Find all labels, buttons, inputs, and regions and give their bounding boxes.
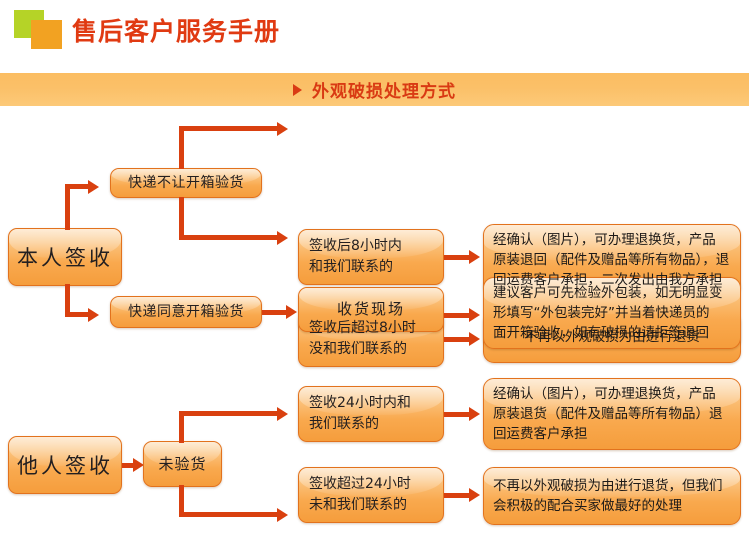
arrow-head-icon [469,332,480,346]
connector-line [179,235,279,240]
arrow-head-icon [277,122,288,136]
connector-line [65,312,90,317]
flow-node-label: 签收超过24小时 未和我们联系的 [299,474,443,516]
result-line: 经确认（图片），可办理退换货，产品 [493,230,731,250]
flow-node-result-refund-confirmed-24h[interactable]: 经确认（图片），可办理退换货，产品 原装退货（配件及赠品等所有物品）退 回运费客… [483,378,741,450]
flow-node-result-no-refund-but-help[interactable]: 不再以外观破损为由进行退货，但我们 会积极的配合买家做最好的处理 [483,467,741,525]
flow-node-result-pre-inspection-advice[interactable]: 建议客户可先检验外包装，如无明显变 形填写“外包装完好”并当着快递员的 面开箱验… [483,277,741,349]
flow-node-label: 快递同意开箱验货 [111,303,261,322]
result-line: 面开箱验收，如有破损的请拒签退回 [493,323,731,343]
flow-node-label: 他人签收 [9,450,121,480]
flow-node-label-line2: 未和我们联系的 [309,495,443,516]
connector-line [179,197,184,240]
flow-node-self-signed-root[interactable]: 本人签收 [8,228,122,286]
arrow-head-icon [277,407,288,421]
arrow-head-icon [469,488,480,502]
flow-node-label-line2: 我们联系的 [309,414,443,435]
flow-node-label: 经确认（图片），可办理退换货，产品 原装退回（配件及赠品等所有物品），退 回运费… [484,230,740,290]
flow-node-label-line1: 签收后超过8小时 [309,318,443,339]
flow-node-label: 建议客户可先检验外包装，如无明显变 形填写“外包装完好”并当着快递员的 面开箱验… [484,283,740,343]
flow-node-label-line1: 签收超过24小时 [309,474,443,495]
arrow-head-icon [277,508,288,522]
arrow-head-icon [88,180,99,194]
connector-line [179,411,279,416]
arrow-head-icon [469,308,480,322]
flow-node-branch-agree-open-inspect[interactable]: 快递同意开箱验货 [110,296,262,328]
page-title: 售后客户服务手册 [72,12,280,48]
arrow-head-icon [88,308,99,322]
flow-node-other-signed-root[interactable]: 他人签收 [8,436,122,494]
arrow-head-icon [469,250,480,264]
flow-node-label: 本人签收 [9,242,121,272]
flow-node-label-line1: 签收24小时内和 [309,393,443,414]
flow-node-label: 快递不让开箱验货 [111,174,261,193]
flow-node-branch-not-inspected[interactable]: 未验货 [143,441,222,487]
flow-node-condition-within-24h[interactable]: 签收24小时内和 我们联系的 [298,386,444,442]
triangle-right-icon [293,84,302,96]
section-title-bar: 外观破损处理方式 [0,73,749,106]
flow-node-condition-over-8h[interactable]: 签收后超过8小时 没和我们联系的 [298,311,444,367]
connector-line [179,126,279,131]
result-line: 经确认（图片），可办理退换货，产品 [493,384,731,404]
result-line: 建议客户可先检验外包装，如无明显变 [493,283,731,303]
result-line: 形填写“外包装完好”并当着快递员的 [493,303,731,323]
flow-node-branch-no-open-inspect[interactable]: 快递不让开箱验货 [110,168,262,198]
flow-node-label: 未验货 [144,455,221,474]
page-header: 售后客户服务手册 [0,0,749,73]
flow-node-label-line2: 没和我们联系的 [309,339,443,360]
logo-square-orange [31,20,62,49]
flow-node-condition-over-24h[interactable]: 签收超过24小时 未和我们联系的 [298,467,444,523]
connector-line [65,184,90,189]
arrow-head-icon [277,231,288,245]
flow-node-label: 收货现场 [299,300,443,319]
result-line: 原装退货（配件及赠品等所有物品）退 [493,404,731,424]
two-squares-logo-icon [14,10,64,50]
result-line: 原装退回（配件及赠品等所有物品），退 [493,250,731,270]
result-line: 会积极的配合买家做最好的处理 [493,496,731,516]
flow-node-label: 经确认（图片），可办理退换货，产品 原装退货（配件及赠品等所有物品）退 回运费客… [484,384,740,444]
result-line: 回运费客户承担 [493,424,731,444]
flow-node-label: 签收后8小时内 和我们联系的 [299,236,443,278]
result-line: 不再以外观破损为由进行退货，但我们 [493,476,731,496]
section-title: 外观破损处理方式 [312,77,456,102]
connector-line [65,184,70,230]
flow-node-label: 签收24小时内和 我们联系的 [299,393,443,435]
arrow-head-icon [286,305,297,319]
connector-line [179,512,279,517]
flow-node-label-line2: 和我们联系的 [309,257,443,278]
arrow-head-icon [469,407,480,421]
flowchart-canvas: 本人签收 快递不让开箱验货 快递同意开箱验货 签收后8小时内 和我们联系的 [0,106,749,549]
flow-node-label: 签收后超过8小时 没和我们联系的 [299,318,443,360]
flow-node-label: 不再以外观破损为由进行退货，但我们 会积极的配合买家做最好的处理 [484,476,740,516]
flow-node-condition-within-8h[interactable]: 签收后8小时内 和我们联系的 [298,229,444,285]
flow-node-label-line1: 签收后8小时内 [309,236,443,257]
connector-line [179,126,184,169]
